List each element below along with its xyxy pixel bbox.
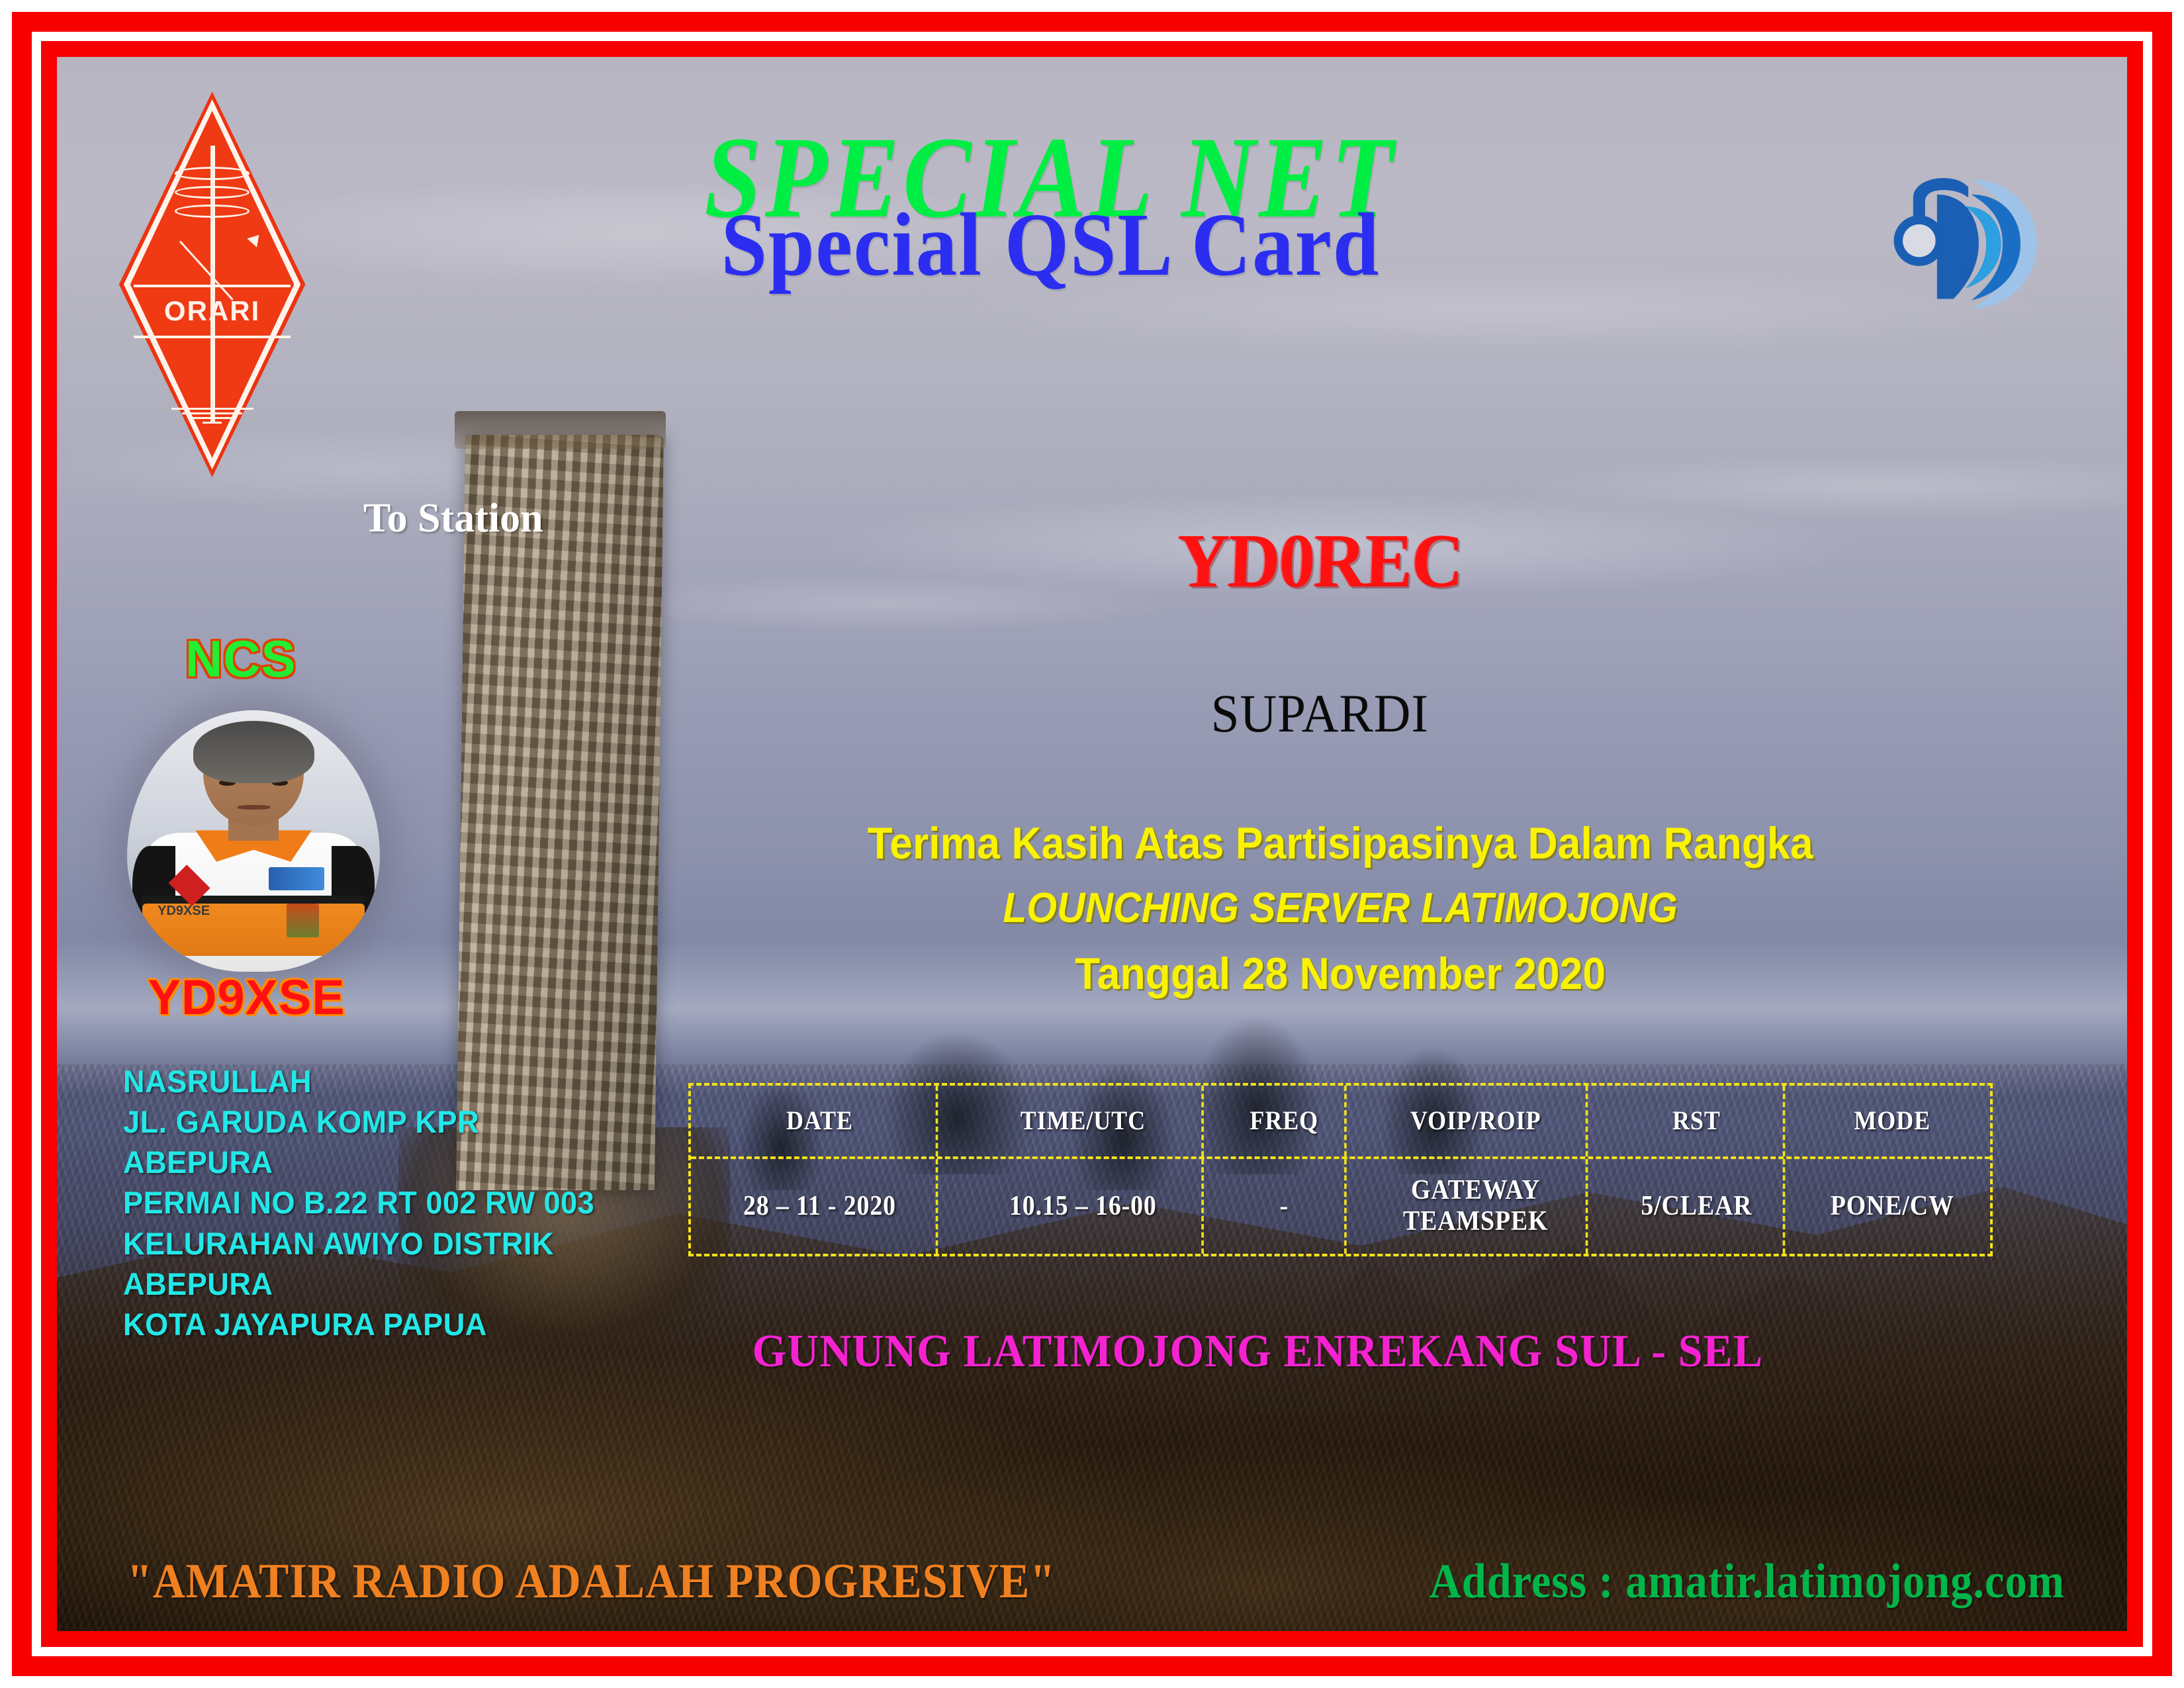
cell-voip-line2: TEAMSPEK (1403, 1206, 1548, 1237)
recipient-operator-name: SUPARDI (950, 686, 1689, 741)
address-line: JL. GARUDA KOMP KPR (123, 1102, 594, 1142)
location-caption: GUNUNG LATIMOJONG ENREKANG SUL - SEL (668, 1329, 1848, 1375)
column-header-time: TIME/UTC (964, 1086, 1204, 1156)
address-line: KOTA JAYAPURA PAPUA (123, 1304, 594, 1344)
column-header-rst: RST (1610, 1086, 1786, 1156)
ncs-callsign: YD9XSE (148, 973, 345, 1022)
to-station-label: To Station (363, 498, 543, 539)
cell-date: 28 – 11 - 2020 (704, 1159, 938, 1254)
thanks-line-1: Terima Kasih Atas Partisipasinya Dalam R… (788, 818, 1893, 869)
orari-wordmark: ORARI (164, 295, 260, 327)
address-line: ABEPURA (123, 1142, 594, 1182)
page-subtitle-qsl-card: Special QSL Card (479, 200, 1622, 290)
photo-mouth (238, 805, 270, 809)
recipient-callsign: YD0REC (949, 523, 1691, 600)
cell-rst: 5/CLEAR (1610, 1159, 1786, 1254)
cell-voip: GATEWAY TEAMSPEK (1366, 1159, 1588, 1254)
ncs-operator-photo: YD9XSE (127, 710, 380, 972)
table-header-row: DATE TIME/UTC FREQ VOIP/ROIP RST MODE (691, 1086, 1990, 1156)
footer-web-address: Address : amatir.latimojong.com (1430, 1557, 2065, 1606)
thanks-line-2-event: LOUNCHING SERVER LATIMOJONG (788, 883, 1893, 932)
cell-voip-line1: GATEWAY (1411, 1175, 1540, 1205)
inner-red-frame: ORARI SPECIAL NET Special Q (41, 41, 2143, 1647)
photo-shirt-callsign: YD9XSE (158, 904, 210, 919)
column-header-mode: MODE (1805, 1086, 1980, 1156)
photo-oval-vignette: YD9XSE (127, 710, 380, 972)
thanks-line-3-date: Tanggal 28 November 2020 (788, 948, 1893, 1000)
address-line: PERMAI NO B.22 RT 002 RW 003 (123, 1182, 594, 1223)
address-line: NASRULLAH (123, 1061, 594, 1102)
ground-symbol-icon (171, 408, 253, 439)
photo-chest-badge (269, 867, 324, 891)
footer-slogan: "AMATIR RADIO ADALAH PROGRESIVE" (127, 1557, 1056, 1606)
column-header-freq: FREQ (1224, 1086, 1346, 1156)
column-header-voip: VOIP/ROIP (1366, 1086, 1588, 1156)
orari-text-band: ORARI (134, 285, 290, 339)
ncs-label: NCS (185, 633, 296, 684)
photo-hair (193, 721, 314, 784)
cell-mode: PONE/CW (1805, 1159, 1980, 1254)
headset-face-logo (1891, 101, 2040, 385)
cell-time: 10.15 – 16-00 (964, 1159, 1204, 1254)
outer-red-frame: ORARI SPECIAL NET Special Q (12, 12, 2172, 1676)
orari-logo: ORARI (119, 91, 306, 477)
qsl-card: ORARI SPECIAL NET Special Q (0, 0, 2184, 1688)
column-header-date: DATE (704, 1086, 938, 1156)
table-row: 28 – 11 - 2020 10.15 – 16-00 - GATEWAY T… (691, 1156, 1990, 1254)
address-line: KELURAHAN AWIYO DISTRIK (123, 1223, 594, 1264)
station-address-block: NASRULLAH JL. GARUDA KOMP KPR ABEPURA PE… (123, 1061, 594, 1344)
cell-freq: - (1224, 1159, 1346, 1254)
photo-id-tag (287, 904, 320, 937)
address-line: ABEPURA (123, 1264, 594, 1304)
qso-details-table: DATE TIME/UTC FREQ VOIP/ROIP RST MODE 28… (688, 1083, 1993, 1256)
